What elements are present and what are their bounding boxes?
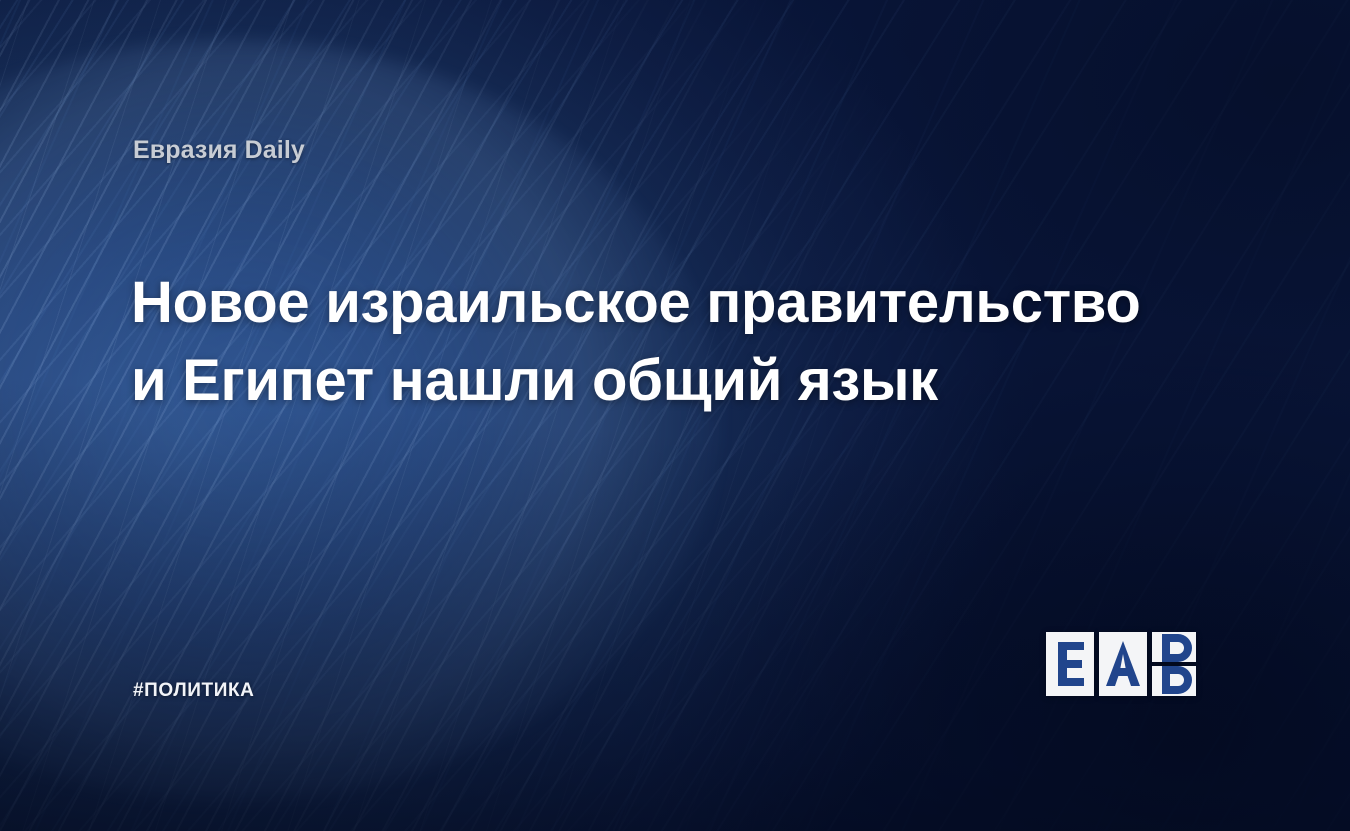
headline: Новое израильское правительство и Египет… xyxy=(131,264,1131,420)
logo-tile-d xyxy=(1152,632,1204,696)
logo-letter-e-icon xyxy=(1046,632,1094,696)
logo-tile-e xyxy=(1046,632,1094,696)
logo-letter-d-icon xyxy=(1152,632,1204,696)
logo-tile-a xyxy=(1099,632,1147,696)
headline-line-2: и Египет нашли общий язык xyxy=(131,342,1131,420)
brand-name: Евразия Daily xyxy=(133,136,305,165)
category-tag[interactable]: #ПОЛИТИКА xyxy=(133,680,255,702)
headline-line-1: Новое израильское правительство xyxy=(131,264,1131,342)
news-share-card: Евразия Daily Новое израильское правител… xyxy=(0,0,1350,831)
ead-logo[interactable] xyxy=(1046,632,1222,696)
logo-letter-a-icon xyxy=(1099,632,1147,696)
